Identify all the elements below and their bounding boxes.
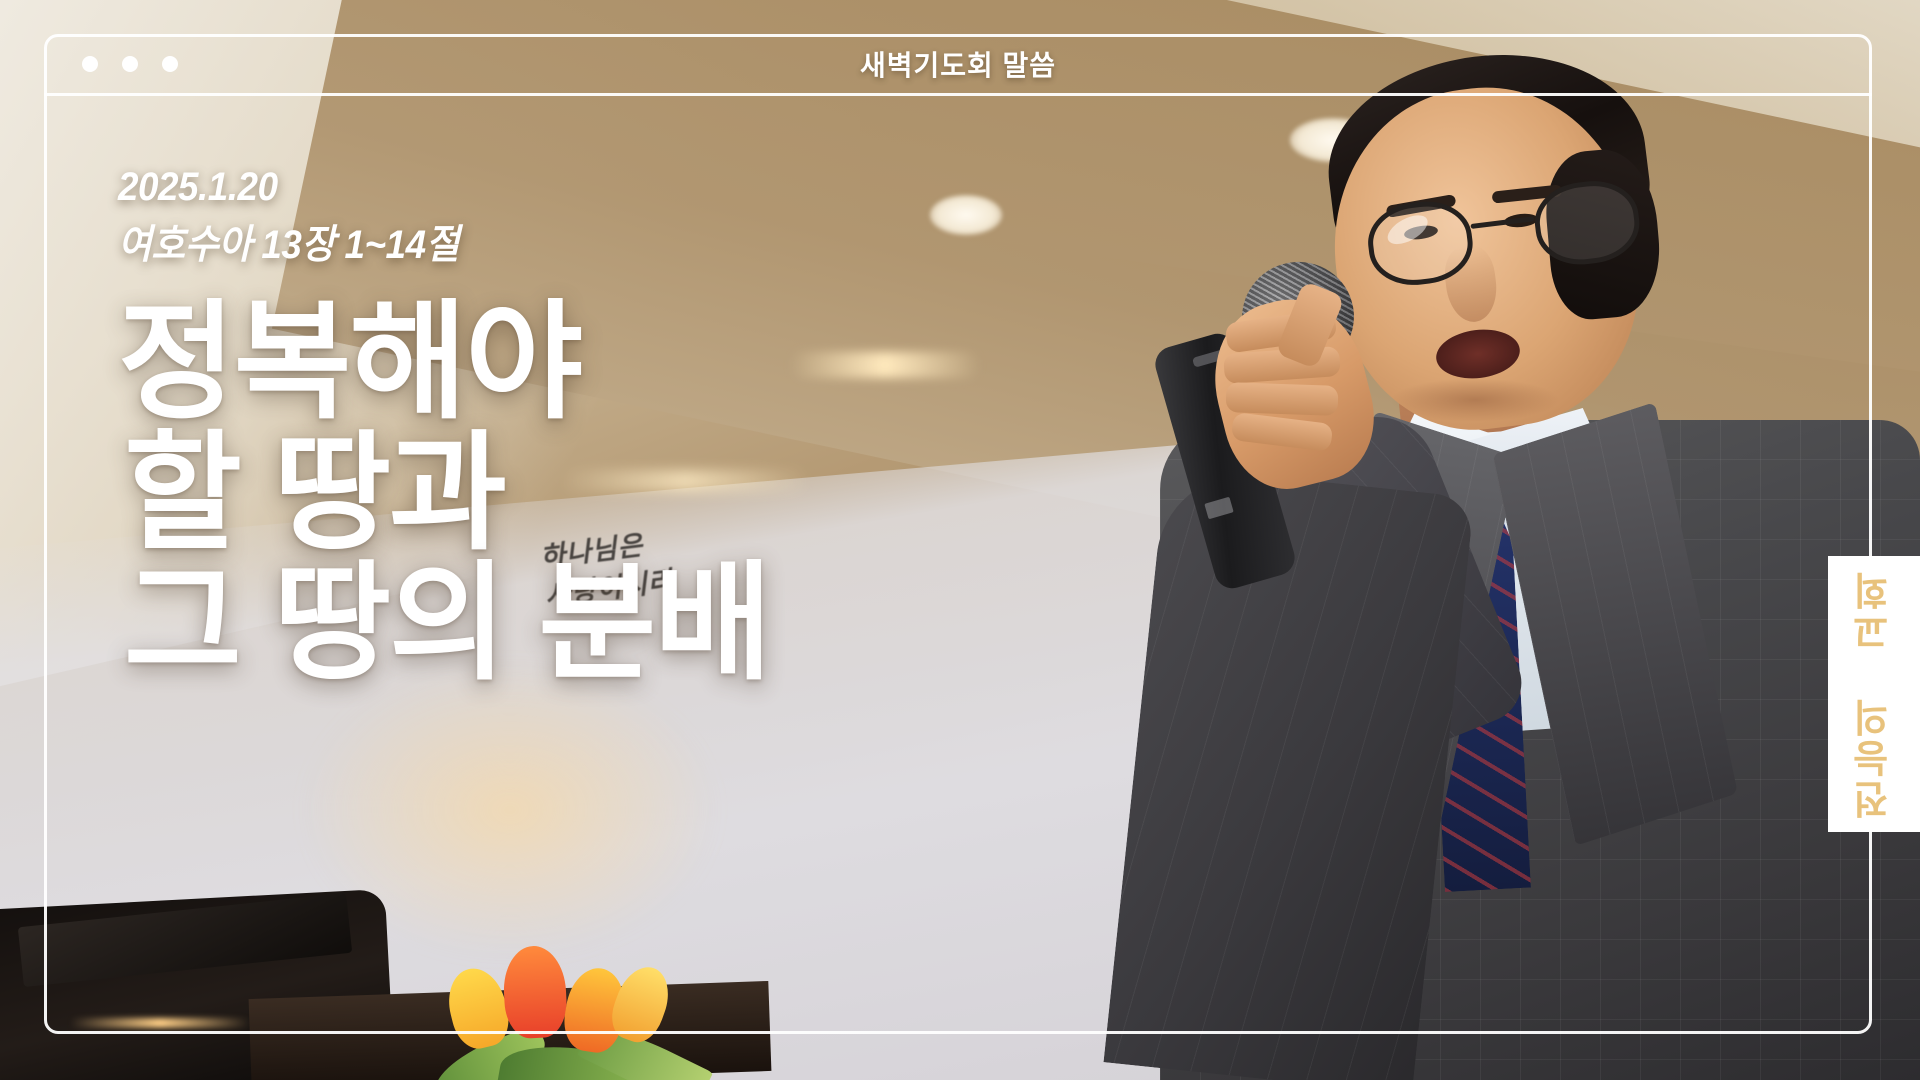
speaker-figure [1100, 0, 1920, 1080]
window-titlebar: 새벽기도회 말씀 [44, 34, 1872, 96]
glasses-lens-right [1531, 176, 1644, 270]
finger [1226, 382, 1339, 416]
sermon-scripture-reference: 여호수아 13장 1~14절 [118, 216, 1038, 274]
lens-reflection [1383, 209, 1432, 250]
window-title: 새벽기도회 말씀 [44, 44, 1872, 84]
screenshot-stage: 하나님은 사랑이시라 [0, 0, 1920, 1080]
piano-highlight [70, 1018, 250, 1028]
headline-line-3: 그 땅의 분배 [118, 559, 1118, 690]
sermon-date: 2025.1.20 [118, 158, 1038, 216]
flower-arrangement [430, 970, 710, 1080]
church-name-tab: 전능의 교회 [1828, 556, 1920, 832]
sermon-text-block: 2025.1.20 여호수아 13장 1~14절 정복해야 할 땅과 그 땅의 … [118, 158, 1118, 690]
headline-line-1: 정복해야 [118, 298, 1118, 429]
sermon-headline: 정복해야 할 땅과 그 땅의 분배 [118, 298, 1118, 690]
glasses-bridge [1470, 216, 1534, 229]
chin-shadow [1390, 378, 1560, 422]
church-name-label: 전능의 교회 [1847, 569, 1902, 819]
sermon-meta: 2025.1.20 여호수아 13장 1~14절 [118, 158, 1038, 274]
headline-line-2: 할 땅과 [118, 429, 1118, 560]
glasses-lens-left [1364, 196, 1477, 290]
